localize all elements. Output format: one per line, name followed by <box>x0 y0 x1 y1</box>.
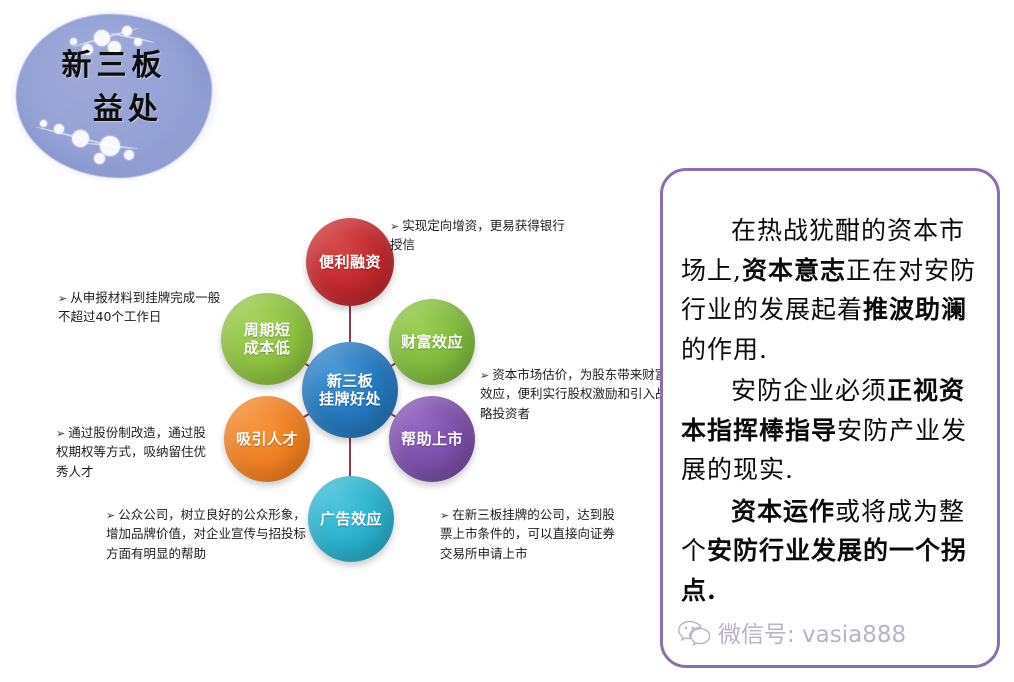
body-text: 的作用. <box>681 335 768 364</box>
commentary-text: 在热战犹酣的资本市场上,资本意志正在对安防行业的发展起着推波助澜的作用.安防企业… <box>681 211 979 610</box>
annot-text: 公众公司，树立良好的公众形象，增加品牌价值，对企业宣传与招投标方面有明显的帮助 <box>106 507 306 561</box>
title-text: 新三板 益处 <box>10 44 218 131</box>
annot-help-listing: ➢在新三板挂牌的公司，达到股票上市条件的，可以直接向证券交易所申请上市 <box>440 505 625 563</box>
annot-text: 资本市场估价，为股东带来财富效应，便利实行股权激励和引入战略投资者 <box>480 367 668 421</box>
center-node[interactable]: 新三板 挂牌好处 <box>302 342 398 438</box>
annot-text: 在新三板挂牌的公司，达到股票上市条件的，可以直接向证券交易所申请上市 <box>440 507 615 561</box>
node-label: 财富效应 <box>401 333 463 351</box>
annot-short-cycle: ➢从申报材料到挂牌完成一般不超过40个工作日 <box>58 288 230 327</box>
node-label: 广告效应 <box>320 510 382 528</box>
emphasis-text: 推波助澜 <box>863 295 967 324</box>
node-label-line1: 周期短 <box>244 321 291 339</box>
bullet-arrow-icon: ➢ <box>58 292 67 305</box>
wechat-id-row: 微信号: vasia888 <box>677 615 906 649</box>
annot-convenient-financing: ➢实现定向增资，更易获得银行授信 <box>390 216 570 255</box>
node-convenient-financing[interactable]: 便利融资 <box>306 218 394 306</box>
bullet-arrow-icon: ➢ <box>480 369 489 382</box>
emphasis-text: 资本意志 <box>742 256 846 285</box>
title-line-2: 益处 <box>10 88 218 132</box>
node-label: 吸引人才 <box>236 430 298 448</box>
node-wealth-effect[interactable]: 财富效应 <box>389 299 475 385</box>
node-short-cycle-low-cost[interactable]: 周期短 成本低 <box>221 293 313 385</box>
annot-text: 从申报材料到挂牌完成一般不超过40个工作日 <box>58 290 220 324</box>
annot-text: 通过股份制改造，通过股权期权等方式，吸纳留住优秀人才 <box>56 425 206 479</box>
node-label: 便利融资 <box>319 253 381 271</box>
center-node-label-line2: 挂牌好处 <box>319 390 381 408</box>
node-label: 帮助上市 <box>401 430 463 448</box>
node-help-listing[interactable]: 帮助上市 <box>389 396 475 482</box>
commentary-paragraph: 在热战犹酣的资本市场上,资本意志正在对安防行业的发展起着推波助澜的作用. <box>681 211 979 369</box>
title-badge: 新三板 益处 <box>10 8 218 183</box>
emphasis-text: 资本运作 <box>731 497 835 526</box>
node-attract-talent[interactable]: 吸引人才 <box>224 396 310 482</box>
title-line-1: 新三板 <box>62 48 167 83</box>
node-advertising-effect[interactable]: 广告效应 <box>308 476 394 562</box>
annot-wealth-effect: ➢资本市场估价，为股东带来财富效应，便利实行股权激励和引入战略投资者 <box>480 365 670 423</box>
body-text: 安防企业必须 <box>731 376 887 405</box>
bullet-arrow-icon: ➢ <box>390 220 399 233</box>
bullet-arrow-icon: ➢ <box>56 427 65 440</box>
node-label-line2: 成本低 <box>244 339 291 357</box>
wechat-id-label: 微信号: vasia888 <box>718 615 906 649</box>
commentary-paragraph: 安防企业必须正视资本指挥棒指导安防产业发展的现实. <box>681 371 979 490</box>
center-node-label-line1: 新三板 <box>319 372 381 390</box>
bullet-arrow-icon: ➢ <box>440 509 449 522</box>
annot-text: 实现定向增资，更易获得银行授信 <box>390 218 565 252</box>
benefits-circle-diagram: 新三板 挂牌好处 便利融资 财富效应 帮助上市 广告效应 吸引人才 周期短 成本… <box>40 200 660 600</box>
annot-attract-talent: ➢通过股份制改造，通过股权期权等方式，吸纳留住优秀人才 <box>56 423 216 481</box>
wechat-icon <box>677 619 711 646</box>
commentary-panel: 在热战犹酣的资本市场上,资本意志正在对安防行业的发展起着推波助澜的作用.安防企业… <box>660 168 1000 668</box>
emphasis-text: 安防行业发展的一个拐点. <box>681 536 967 605</box>
commentary-paragraph: 资本运作或将成为整个安防行业发展的一个拐点. <box>681 492 979 611</box>
annot-advertising-effect: ➢公众公司，树立良好的公众形象，增加品牌价值，对企业宣传与招投标方面有明显的帮助 <box>106 505 311 563</box>
bullet-arrow-icon: ➢ <box>106 509 115 522</box>
